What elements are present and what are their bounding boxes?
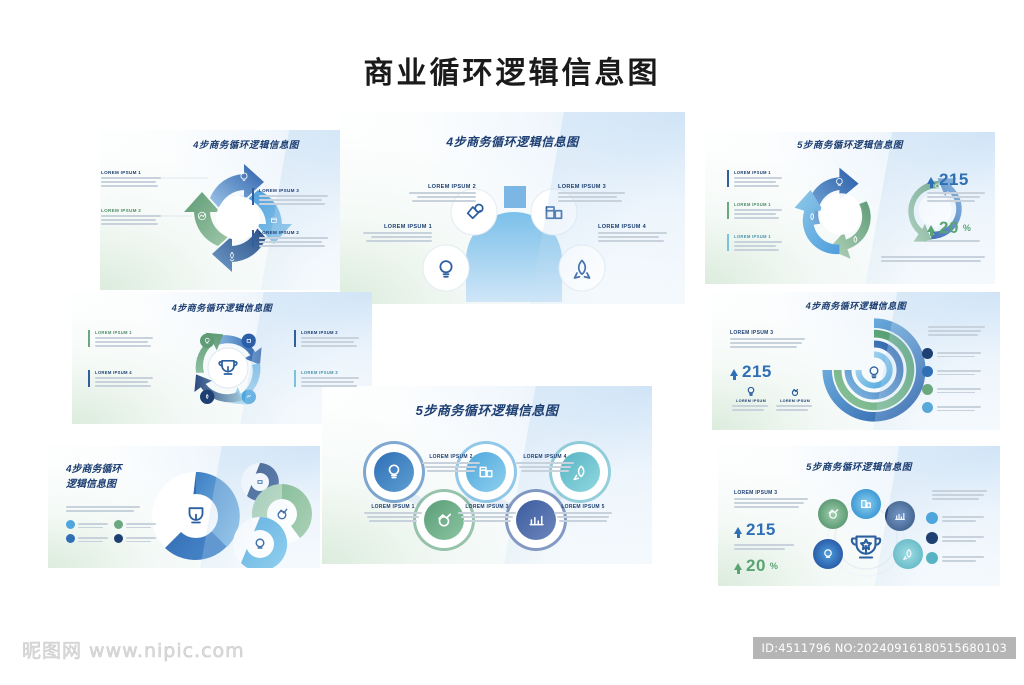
pct-badge [922,384,933,395]
list-item[interactable] [66,534,108,543]
card-2-label-3: LOREM IPSUM 3 [558,184,636,202]
legend-dot [114,534,123,543]
card-6-legend [66,520,158,543]
card-1-label-1: LOREM IPSUM 1 [100,170,163,187]
lightbulb-icon [384,462,404,482]
card-4-label-3: LOREM IPSUM 3 [294,370,363,387]
card-3-footnote [881,254,987,262]
poster-canvas: 商业循环逻辑信息图 4步商务循环逻辑信息图 LOREM IPSUM 1 LORE… [0,0,1024,685]
card-5-sub-1-heading: LOREM IPSUM [732,399,770,403]
list-item[interactable] [922,366,981,377]
card-7-step-5-label: LOREM IPSUM 5 [552,504,614,522]
card-5-left-block: LOREM IPSUM 3 [730,330,808,348]
pct-badge [926,512,938,524]
card-8-right-intro [932,488,988,500]
list-item[interactable] [922,384,981,395]
card-6-donut-cluster[interactable] [142,456,320,568]
legend-dot [114,520,123,529]
watermark: 昵图网 www.nipic.com [22,636,245,663]
card-2-label-1-heading: LOREM IPSUM 1 [352,224,432,230]
trend-up-icon [734,527,742,534]
card-7-step-4-label: LOREM IPSUM 4 [514,454,576,472]
card-5-sub-2: LOREM IPSUM [776,386,814,411]
list-item[interactable] [922,402,981,413]
card-4-title: 4步商务循环逻辑信息图 [72,302,372,314]
card-7-step-2-label: LOREM IPSUM 2 [420,454,482,472]
card-5-title: 4步商务循环逻辑信息图 [712,300,1000,312]
card-4-label-2-heading: LOREM IPSUM 2 [301,330,363,335]
slide-card-8[interactable]: 5步商务循环逻辑信息图 LOREM IPSUM 3 215 20 % [718,446,1000,586]
card-8-pct-list [926,512,984,564]
card-4-label-4-heading: LOREM IPSUM 4 [95,370,157,375]
card-1-label-4: LOREM IPSUM 2 [252,230,331,247]
card-1-label-2-heading: LOREM IPSUM 2 [101,208,163,213]
card-3-stat-1-body [927,190,987,202]
pct-badge [926,532,938,544]
pct-badge [922,348,933,359]
card-8-stat-body [734,542,796,550]
list-item[interactable] [926,532,984,544]
card-1-label-3-heading: LOREM IPSUM 3 [259,188,331,193]
card-3-label-2-heading: LOREM IPSUM 1 [734,202,786,207]
card-8-title: 5步商务循环逻辑信息图 [718,462,1000,475]
id-badge: ID:4511796 NO:20240916180515680103 [753,637,1016,659]
card-3-label-3: LOREM IPSUM 1 [727,234,786,251]
pct-badge [926,552,938,564]
card-7-step-4-heading: LOREM IPSUM 4 [514,454,576,460]
pct-badge [922,402,933,413]
card-5-radial-diagram[interactable] [822,318,926,422]
card-4-cycle-diagram[interactable] [180,320,276,416]
slide-card-7[interactable]: 5步商务循环逻辑信息图 [322,386,652,564]
card-3-stat-1-value: 215 [939,170,969,190]
card-3-label-3-heading: LOREM IPSUM 1 [734,234,786,239]
card-3-stat-2-value: 20 [939,218,959,238]
card-2-label-2: LOREM IPSUM 2 [398,184,476,202]
handshake-icon [789,386,801,398]
handshake-icon [434,510,454,530]
card-6-title-line1: 4步商务循环 [66,462,122,477]
card-7-step-3-heading: LOREM IPSUM 3 [456,504,518,510]
card-7-step-3-label: LOREM IPSUM 3 [456,504,518,522]
pct-badge [922,366,933,377]
card-2-title: 4步商务循环逻辑信息图 [340,134,685,150]
card-1-cycle-diagram[interactable] [178,158,298,278]
card-3-title: 5步商务循环逻辑信息图 [705,140,995,153]
trend-up-icon [927,177,935,184]
card-8-stat-2-value: 20 [746,556,766,576]
card-3-stat-2: 20 % [927,218,971,238]
card-6-title: 4步商务循环 逻辑信息图 [66,462,122,492]
card-4-label-1: LOREM IPSUM 1 [88,330,157,347]
card-2-label-4-heading: LOREM IPSUM 4 [598,224,678,230]
card-4-label-2: LOREM IPSUM 2 [294,330,363,347]
card-8-bubble-cluster[interactable] [808,490,938,582]
card-8-stat-1: 215 [734,520,776,540]
card-7-step-1-label: LOREM IPSUM 1 [362,504,424,522]
card-8-stat-2-suffix: % [770,561,779,571]
legend-dot [66,534,75,543]
card-4-label-1-heading: LOREM IPSUM 1 [95,330,157,335]
trend-up-icon [730,369,738,376]
card-7-title: 5步商务循环逻辑信息图 [322,402,652,420]
card-3-label-2: LOREM IPSUM 1 [727,202,786,219]
slide-card-5[interactable]: 4步商务循环逻辑信息图 LOREM IPSUM 3 215 LOREM IPSU… [712,292,1000,430]
card-2-label-4: LOREM IPSUM 4 [598,224,678,242]
trend-up-icon [734,563,742,570]
card-3-cycle-diagram[interactable] [793,166,889,262]
card-3-stat-2-body [927,238,987,242]
card-1-label-3: LOREM IPSUM 3 [252,188,331,205]
card-3-label-1: LOREM IPSUM 1 [727,170,786,187]
card-5-sub-2-heading: LOREM IPSUM [776,399,814,403]
list-item[interactable] [66,520,108,529]
list-item[interactable] [114,534,156,543]
card-3-label-1-heading: LOREM IPSUM 1 [734,170,786,175]
legend-dot [66,520,75,529]
list-item[interactable] [114,520,156,529]
trend-up-icon [927,225,935,232]
list-item[interactable] [926,552,984,564]
list-item[interactable] [926,512,984,524]
card-2-label-1: LOREM IPSUM 1 [352,224,432,242]
card-4-label-4: LOREM IPSUM 4 [88,370,157,387]
card-5-right-intro [928,324,986,336]
card-8-left-block: LOREM IPSUM 3 [734,490,810,508]
card-5-sub-1: LOREM IPSUM [732,386,770,411]
card-7-step-2-heading: LOREM IPSUM 2 [420,454,482,460]
slide-card-3[interactable]: 5步商务循环逻辑信息图 LOREM IPSUM 1 LOREM IPSUM 1 … [705,132,995,284]
card-6-body [66,504,142,512]
card-1-label-4-heading: LOREM IPSUM 2 [259,230,331,235]
chart-icon [526,510,546,530]
card-8-left-heading: LOREM IPSUM 3 [734,490,810,496]
card-5-left-heading: LOREM IPSUM 3 [730,330,808,336]
card-1-label-2: LOREM IPSUM 2 [100,208,163,225]
page-title: 商业循环逻辑信息图 [0,48,1024,92]
card-7-step-1-heading: LOREM IPSUM 1 [362,504,424,510]
card-7-step-5-heading: LOREM IPSUM 5 [552,504,614,510]
card-6-title-line2: 逻辑信息图 [66,477,122,492]
list-item[interactable] [922,348,981,359]
card-5-pct-list [922,348,981,413]
card-2-label-3-heading: LOREM IPSUM 3 [558,184,636,190]
card-8-stat-2: 20 % [734,556,778,576]
slide-card-2[interactable]: 4步商务循环逻辑信息图 LOREM IPSUM 2 LOREM IPSUM 3 … [340,112,685,304]
lightbulb-icon [745,386,757,398]
card-3-stat-1: 215 [927,170,969,190]
card-7-step-1-badge[interactable] [370,448,418,496]
card-8-stat-1-value: 215 [746,520,776,540]
card-2-label-2-heading: LOREM IPSUM 2 [398,184,476,190]
card-5-stat-value: 215 [742,362,772,382]
card-3-stat-2-suffix: % [963,223,972,233]
slide-card-6[interactable]: 4步商务循环 逻辑信息图 [48,446,320,568]
card-1-label-1-heading: LOREM IPSUM 1 [101,170,163,175]
card-5-stat: 215 [730,362,772,382]
card-4-label-3-heading: LOREM IPSUM 3 [301,370,363,375]
